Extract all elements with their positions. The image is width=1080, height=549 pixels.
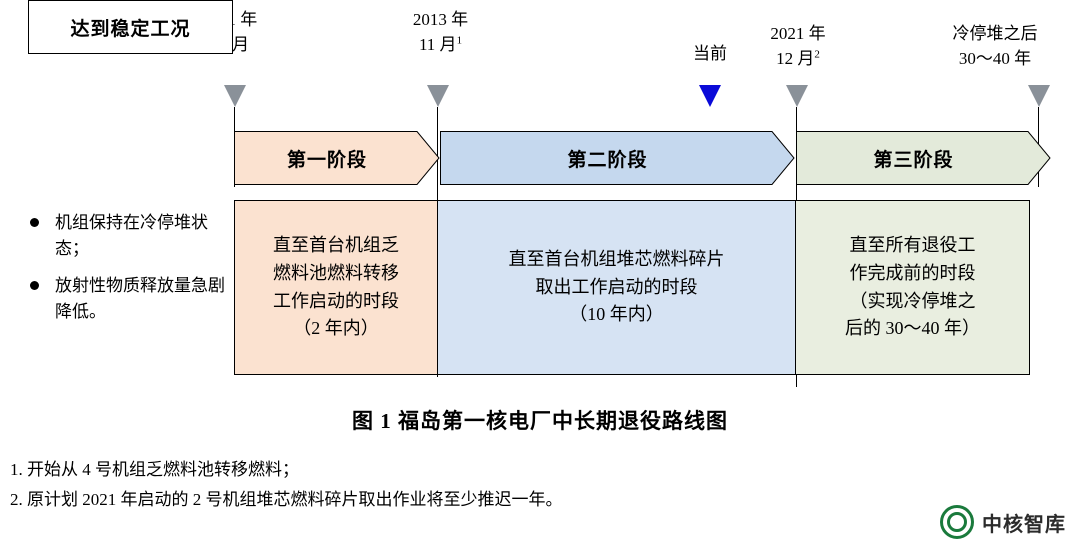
marker-2013-line1: 2013 年 [383,8,498,33]
phase-stable-label: 达到稳定工况 [70,14,190,41]
bullet-dot-icon [30,218,39,227]
logo-mark-icon [940,505,974,539]
phase-2-label: 第二阶段 [567,145,647,172]
bullet-dot-icon [30,281,39,290]
phase-2-description: 直至首台机组堆芯燃料碎片 取出工作启动的时段 （10 年内） [437,200,796,375]
phase-2-desc-line: 取出工作启动的时段 [448,274,785,302]
phase-1-desc-line: 燃料池燃料转移 [245,260,427,288]
phase-2-desc-line: （10 年内） [448,301,785,329]
phase-3-desc-line: 后的 30～40 年） [806,315,1019,343]
footnote-1: 1. 开始从 4 号机组乏燃料池转移燃料； [10,455,563,485]
phase-1-desc-line: 直至首台机组乏 [245,232,427,260]
phase-1-description: 直至首台机组乏 燃料池燃料转移 工作启动的时段 （2 年内） [234,200,438,375]
phase-3-description: 直至所有退役工 作完成前的时段 （实现冷停堆之 后的 30～40 年） [795,200,1030,375]
marker-2013-pin-icon [427,85,449,107]
watermark-logo: 中核智库 [940,505,1066,539]
phase-3-desc-line: （实现冷停堆之 [806,288,1019,316]
marker-2013-month: 11 月 [419,35,457,54]
phase-2-label-wrap: 第二阶段 [440,131,775,185]
phase-1-label-wrap: 第一阶段 [234,131,420,185]
bullet-text: 放射性物质释放量急剧降低。 [55,273,233,326]
phase-1-desc-line: （2 年内） [245,315,427,343]
phase-1-desc-line: 工作启动的时段 [245,288,427,316]
marker-end-line1: 冷停堆之后 [920,22,1070,47]
phase-3-label-wrap: 第三阶段 [796,131,1031,185]
marker-current-pin-icon [699,85,721,107]
stable-condition-notes: 机组保持在冷停堆状态； 放射性物质释放量急剧降低。 [28,200,233,375]
marker-end-line2: 30～40 年 [920,47,1070,72]
bullet-item: 放射性物质释放量急剧降低。 [28,273,233,326]
marker-2021-month: 12 月 [776,49,814,68]
phase-3-desc-line: 直至所有退役工 [806,232,1019,260]
marker-2021-line1: 2021 年 [742,22,854,47]
marker-2021-footnote-ref: 2 [814,48,820,60]
footnotes: 1. 开始从 4 号机组乏燃料池转移燃料； 2. 原计划 2021 年启动的 2… [10,455,563,515]
marker-2013: 2013 年 11 月1 [383,8,498,57]
footnote-2: 2. 原计划 2021 年启动的 2 号机组堆芯燃料碎片取出作业将至少推迟一年。 [10,485,563,515]
decommissioning-roadmap-figure: 2011 年 12 月 2013 年 11 月1 当前 2021 年 12 月2… [0,0,1080,549]
marker-2021: 2021 年 12 月2 [742,22,854,71]
phase-2-desc-line: 直至首台机组堆芯燃料碎片 [448,246,785,274]
marker-2011-pin-icon [224,85,246,107]
phase-stable: 达到稳定工况 [28,0,233,54]
bullet-item: 机组保持在冷停堆状态； [28,210,233,263]
marker-2021-pin-icon [786,85,808,107]
marker-2013-line2: 11 月1 [383,33,498,58]
marker-2013-footnote-ref: 1 [457,34,463,46]
phase-3-label: 第三阶段 [873,145,953,172]
phase-1-label: 第一阶段 [287,145,367,172]
phase-3-desc-line: 作完成前的时段 [806,260,1019,288]
marker-2021-line2: 12 月2 [742,47,854,72]
logo-text: 中核智库 [982,508,1066,537]
marker-end-pin-icon [1028,85,1050,107]
bullet-text: 机组保持在冷停堆状态； [55,210,233,263]
figure-caption: 图 1 福岛第一核电厂中长期退役路线图 [0,405,1080,435]
marker-end: 冷停堆之后 30～40 年 [920,22,1070,71]
